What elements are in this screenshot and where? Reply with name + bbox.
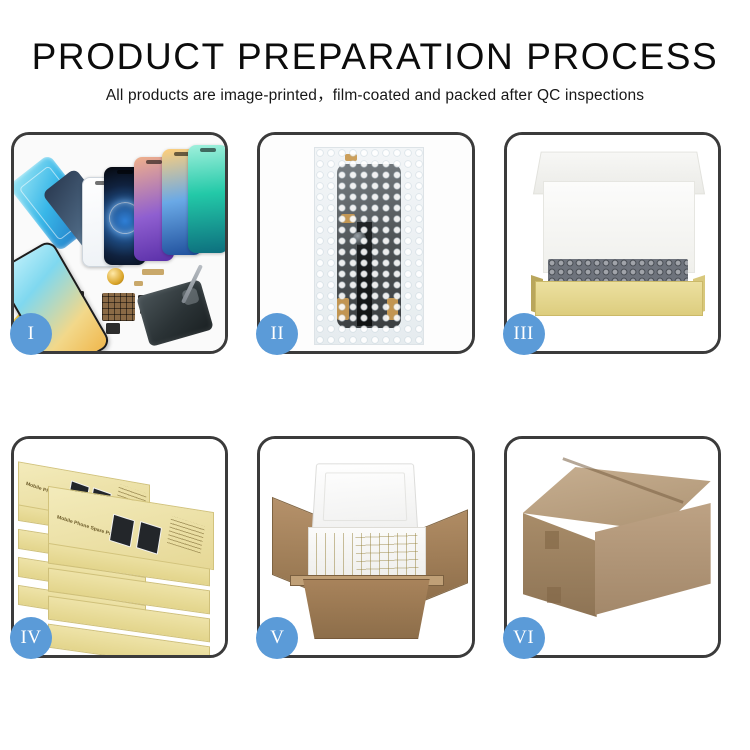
chip-grid-part-icon xyxy=(102,293,135,321)
panel-step-4[interactable]: Mobile Phone Spare Parts Mobile Phone Sp… xyxy=(11,436,228,658)
panel-row-1: I II xyxy=(0,132,750,354)
phone-back-housing-icon xyxy=(136,279,214,347)
connector-part-icon xyxy=(142,269,164,275)
box-front-panel-icon xyxy=(535,281,703,316)
gold-coil-part-icon xyxy=(107,268,124,285)
page-header: PRODUCT PREPARATION PROCESS All products… xyxy=(0,0,750,104)
panel-row-2: Mobile Phone Spare Parts Mobile Phone Sp… xyxy=(0,436,750,658)
panel-step-2[interactable]: II xyxy=(257,132,474,354)
step-badge-6: VI xyxy=(503,617,545,659)
panel-step-5[interactable]: V xyxy=(257,436,474,658)
panel-step-1[interactable]: I xyxy=(11,132,228,354)
phone-fan-group xyxy=(76,145,225,265)
bubble-wrap-bag xyxy=(314,147,424,345)
notch-icon xyxy=(146,160,162,164)
box-phone-image-icon xyxy=(136,521,162,555)
step-badge-3: III xyxy=(503,313,545,355)
process-panel-grid: I II xyxy=(0,132,750,658)
box-phone-image-icon xyxy=(109,514,135,548)
carton-tape-icon xyxy=(545,531,559,549)
speaker-part-icon xyxy=(106,323,120,334)
styrofoam-lid-icon xyxy=(312,463,419,531)
phone-teal-wallpaper-icon xyxy=(188,145,225,253)
panel-step-3[interactable]: III xyxy=(504,132,721,354)
notch-icon xyxy=(117,170,133,174)
bubble-texture-overlay xyxy=(315,148,423,344)
carton-tape-icon xyxy=(547,587,561,603)
page-subtitle: All products are image-printed，film-coat… xyxy=(0,88,750,104)
step-badge-4: IV xyxy=(10,617,52,659)
step-badge-1: I xyxy=(10,313,52,355)
yellow-boxes-stack-icon xyxy=(356,530,420,578)
notch-icon xyxy=(200,148,216,152)
page-title: PRODUCT PREPARATION PROCESS xyxy=(0,38,750,75)
box-text-lines-icon xyxy=(167,516,205,554)
small-connector-part-icon xyxy=(134,281,143,286)
panel-step-6[interactable]: VI xyxy=(504,436,721,658)
carton-front-icon xyxy=(294,579,438,639)
